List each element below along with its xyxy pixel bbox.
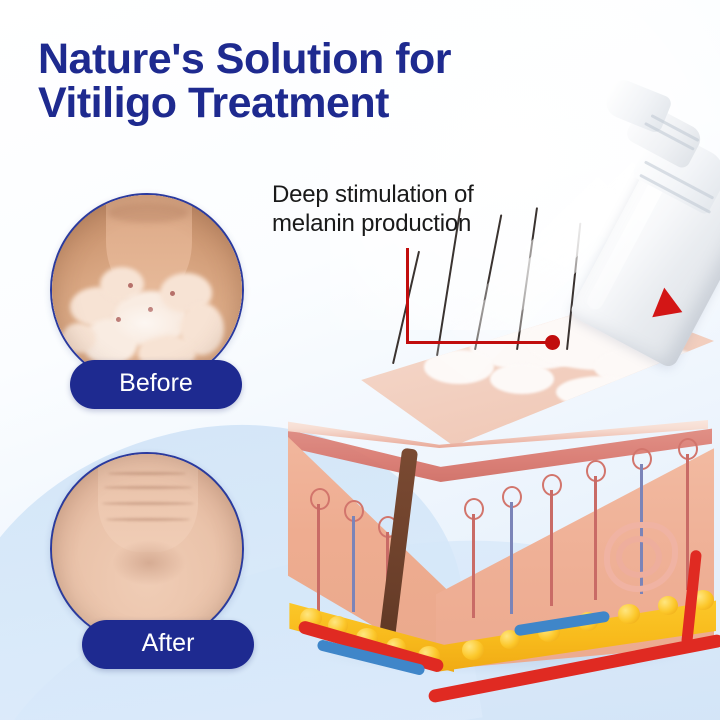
after-label-badge: After: [82, 620, 254, 669]
callout-text: Deep stimulation of melanin production: [272, 180, 544, 239]
before-label-badge: Before: [70, 360, 242, 409]
fat-cell: [618, 604, 640, 624]
fat-cell: [658, 596, 678, 615]
callout-pointer-horizontal: [406, 341, 552, 344]
callout-pointer-dot: [545, 335, 560, 350]
vitiligo-patch: [490, 364, 554, 394]
capillary-vessel: [352, 516, 355, 612]
after-photo-vignette: [52, 454, 242, 644]
capillary-vessel: [594, 476, 597, 600]
advertisement-canvas: Nature's Solution for Vitiligo Treatment: [0, 0, 720, 720]
vitiligo-patch: [624, 380, 702, 408]
capillary-vessel: [510, 502, 513, 614]
after-photo-image: [52, 454, 242, 644]
capillary-vessel: [317, 504, 320, 612]
before-photo: [50, 193, 244, 387]
fat-cell: [462, 640, 484, 660]
vitiligo-patch: [556, 376, 648, 408]
sweat-gland-coil: [616, 536, 662, 578]
before-photo-image: [52, 195, 242, 385]
before-photo-vignette: [52, 195, 242, 385]
capillary-loop: [310, 488, 330, 510]
after-photo: [50, 452, 244, 646]
page-title: Nature's Solution for Vitiligo Treatment: [38, 38, 558, 126]
capillary-vessel: [550, 490, 553, 606]
callout-pointer-vertical: [406, 248, 409, 344]
capillary-vessel: [472, 514, 475, 618]
